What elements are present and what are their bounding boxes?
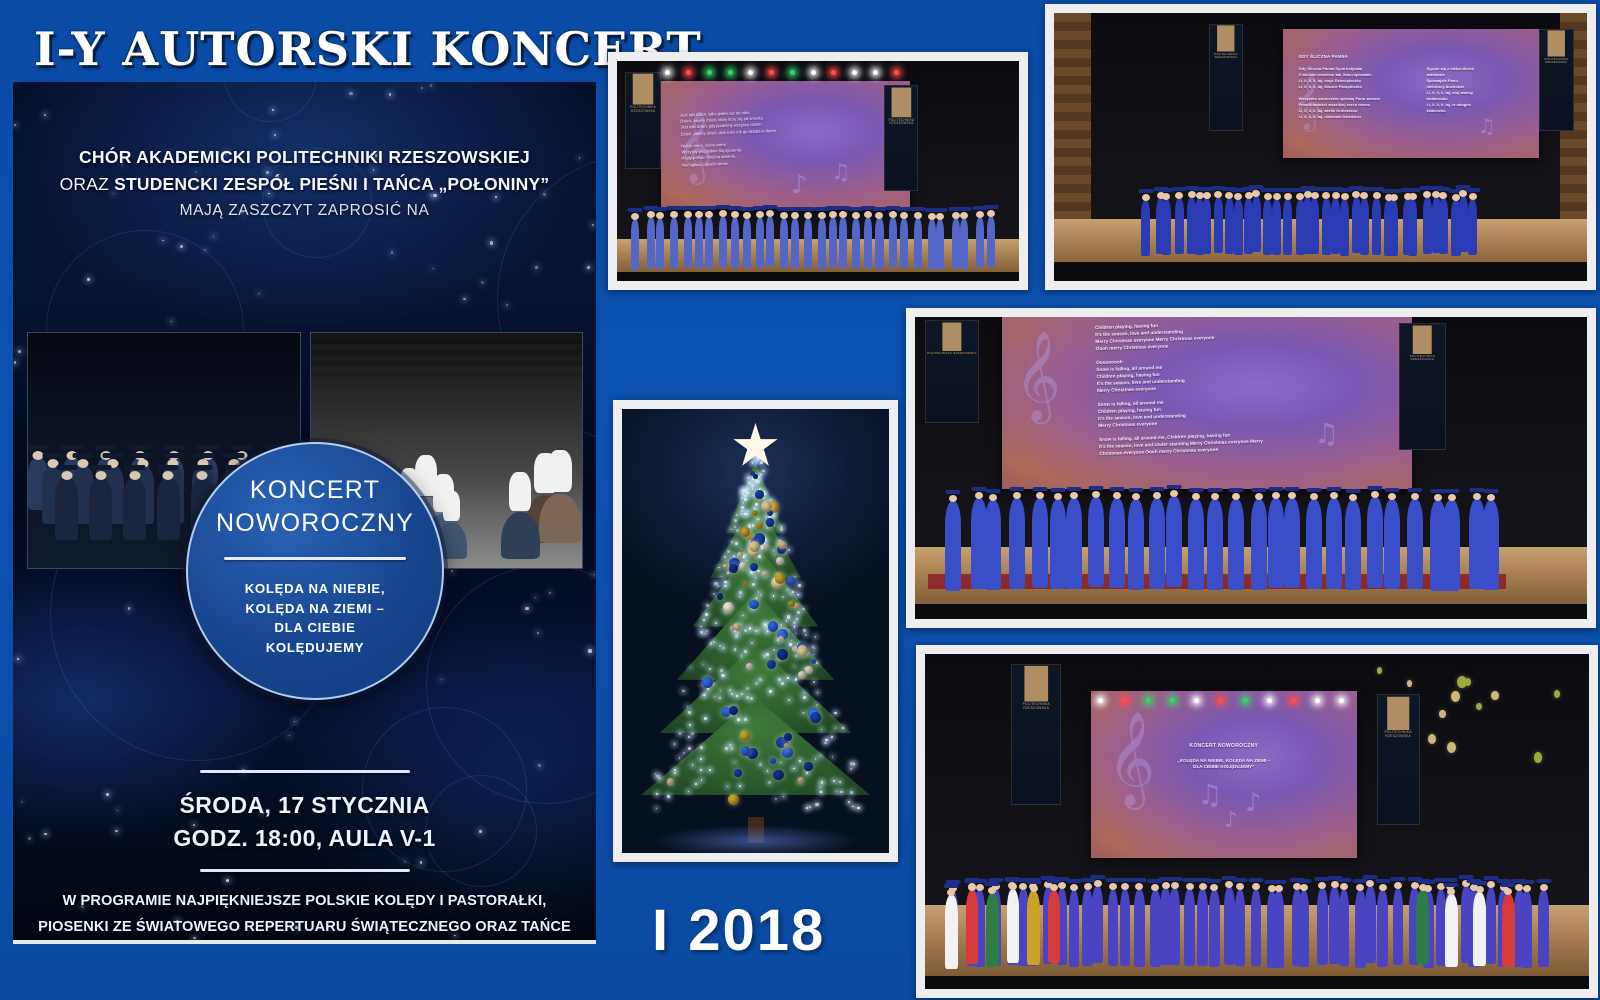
- tree-light: [760, 461, 763, 464]
- tree-light: [752, 462, 753, 463]
- tree-ornament: [804, 762, 813, 771]
- tree-ornament: [777, 649, 788, 660]
- christmas-tree-graphic: [622, 409, 889, 853]
- schedule-time-venue: GODZ. 18:00, AULA V-1: [13, 822, 596, 855]
- choir-member: [1483, 500, 1499, 591]
- tree-light: [736, 695, 738, 697]
- bauble-ornament: [1439, 710, 1446, 718]
- choir-member: [1331, 198, 1340, 254]
- tree-light: [795, 633, 796, 634]
- choir-member: [1439, 198, 1448, 254]
- tree-light: [704, 717, 707, 720]
- tree-light: [758, 555, 761, 558]
- choir-member: [1268, 498, 1284, 589]
- choir-member: [1252, 196, 1261, 252]
- choir-member: [1188, 499, 1204, 590]
- tree-light: [793, 621, 796, 624]
- choir-member: [1228, 499, 1244, 590]
- tree-ornament: [775, 573, 786, 584]
- tree-light: [744, 629, 747, 632]
- tree-light: [704, 694, 706, 696]
- photo-frame-middle-right[interactable]: 𝄞 ♫ Children playing, having fun It's th…: [906, 308, 1596, 628]
- choir-member: [1272, 199, 1281, 255]
- tree-light: [706, 604, 708, 606]
- stage-lamp: [894, 70, 899, 75]
- tree-light: [758, 476, 760, 478]
- tree-ornament: [749, 541, 760, 552]
- choir-member: [1128, 499, 1144, 590]
- tree-light: [706, 630, 708, 632]
- schedule-date: ŚRODA, 17 STYCZNIA: [13, 789, 596, 822]
- tree-ornament: [810, 712, 821, 723]
- tree-light: [786, 620, 787, 621]
- tree-light: [832, 756, 833, 757]
- photo-middle-right: 𝄞 ♫ Children playing, having fun It's th…: [915, 317, 1587, 619]
- choir-member: [1468, 199, 1477, 255]
- badge-subtitle-line2: KOLĘDA NA ZIEMI –: [188, 599, 442, 619]
- organizer-ensemble-line: ORAZ STUDENCKI ZESPÓŁ PIEŚNI I TAŃCA „PO…: [13, 170, 596, 198]
- tree-light: [852, 806, 853, 807]
- tree-light: [746, 687, 749, 690]
- tree-light: [755, 461, 756, 462]
- tree-light: [820, 791, 821, 792]
- badge-subtitle-line1: KOLĘDA NA NIEBIE,: [188, 579, 442, 599]
- page-title: I-Y AUTORSKI KONCERT: [34, 22, 702, 76]
- tree-light: [700, 746, 703, 749]
- tree-ornament: [763, 544, 769, 550]
- tree-light: [710, 642, 713, 645]
- tree-light: [756, 597, 758, 599]
- tree-light: [803, 692, 804, 693]
- tree-light: [824, 742, 827, 745]
- tree-light: [688, 736, 691, 739]
- tree-light: [752, 524, 754, 526]
- year-label: I 2018: [652, 902, 825, 960]
- tree-ornament: [756, 522, 763, 529]
- tree-light: [816, 662, 818, 664]
- choir-member: [1459, 196, 1468, 252]
- tree-light: [726, 560, 727, 561]
- tree-light: [700, 769, 702, 771]
- choir-member: [1149, 498, 1165, 589]
- tree-light: [725, 747, 728, 750]
- poster-organizers: CHÓR AKADEMICKI POLITECHNIKI RZESZOWSKIE…: [13, 144, 596, 224]
- stage-scene: 𝄞 ♫ ♪ ♪ KONCERT NOWOROCZNY „KOLĘDA NA NI…: [925, 654, 1589, 989]
- tree-light: [682, 690, 685, 693]
- stage-lamp: [831, 70, 836, 75]
- tree-light: [763, 497, 765, 499]
- tree-ornament: [717, 593, 724, 600]
- tree-light: [755, 480, 756, 481]
- hanging-baubles: [925, 654, 1589, 989]
- tree-light: [831, 736, 834, 739]
- tree-light: [820, 755, 821, 756]
- poster-program: W PROGRAMIE NAJPIĘKNIEJSZE POLSKIE KOLĘD…: [13, 888, 596, 940]
- tree-light: [719, 697, 720, 698]
- tree-light: [850, 762, 853, 765]
- choir-member: [1207, 499, 1223, 590]
- tree-light: [825, 739, 828, 742]
- organizer-ensemble-name: STUDENCKI ZESPÓŁ PIEŚNI I TAŃCA „POŁONIN…: [114, 174, 549, 194]
- tree-light: [850, 768, 852, 770]
- stage-lamp: [728, 70, 733, 75]
- photo-top-middle: 𝄞 ♪ ♫ Jest taki dzień, tylko jeden raz d…: [617, 61, 1019, 281]
- choir-member: [1251, 499, 1267, 590]
- choir-member: [1407, 499, 1423, 590]
- tree-light: [775, 798, 777, 800]
- choir-member: [1032, 498, 1048, 589]
- tree-light: [736, 529, 739, 532]
- photo-frame-top-middle[interactable]: 𝄞 ♪ ♫ Jest taki dzień, tylko jeden raz d…: [608, 52, 1028, 290]
- choir-row: [915, 317, 1587, 619]
- tree-light: [809, 806, 811, 808]
- tree-light: [734, 519, 737, 522]
- tree-light: [806, 772, 808, 774]
- choir-member: [1389, 200, 1398, 256]
- photo-top-right: 𝄞 ♫ GDY ŚLICZNA PANNA Gdy Śliczna Panna …: [1054, 13, 1587, 281]
- tree-light: [751, 484, 753, 486]
- tree-light: [803, 629, 806, 632]
- bauble-ornament: [1534, 752, 1543, 763]
- tree-ornament: [767, 660, 776, 669]
- tree-ornament: [770, 758, 775, 763]
- tree-light: [674, 769, 676, 771]
- tree-ornament: [798, 777, 804, 783]
- badge-subtitle-line3: DLA CIEBIE: [188, 618, 442, 638]
- tree-light: [795, 678, 798, 681]
- stage-lamp: [665, 70, 670, 75]
- choir-member: [1263, 199, 1272, 255]
- tree-light: [787, 677, 789, 679]
- choir-member: [1234, 199, 1243, 255]
- tree-ornament: [737, 552, 742, 557]
- concert-poster[interactable]: CHÓR AKADEMICKI POLITECHNIKI RZESZOWSKIE…: [13, 82, 596, 944]
- tree-light: [797, 611, 800, 614]
- tree-light: [721, 674, 724, 677]
- tree-light: [848, 801, 850, 803]
- tree-ornament: [766, 518, 774, 526]
- choir-member: [1202, 198, 1211, 254]
- choir-member: [945, 501, 961, 592]
- tree-light: [764, 624, 766, 626]
- tree-light: [752, 461, 753, 462]
- tree-light: [790, 593, 791, 594]
- tree-ornament: [787, 577, 795, 585]
- invitation-line: MAJĄ ZASZCZYT ZAPROSIĆ NA: [13, 198, 596, 224]
- stage-scene: 𝄞 ♪ ♫ Jest taki dzień, tylko jeden raz d…: [617, 61, 1019, 281]
- bauble-ornament: [1377, 667, 1382, 673]
- tree-light: [834, 712, 836, 714]
- tree-light: [767, 770, 768, 771]
- tree-light: [778, 678, 781, 681]
- floor-glow: [622, 813, 889, 853]
- tree-light: [739, 591, 742, 594]
- tree-light: [700, 758, 702, 760]
- tree-light: [736, 514, 738, 516]
- choir-member: [1050, 499, 1066, 590]
- tree-light: [700, 626, 701, 627]
- choir-member: [1166, 496, 1182, 587]
- tree-light: [773, 649, 775, 651]
- tree-light: [690, 667, 691, 668]
- tree-light: [709, 769, 710, 770]
- tree-light: [705, 613, 708, 616]
- tree-light: [835, 727, 836, 728]
- choir-member: [1088, 497, 1104, 588]
- tree-light: [688, 711, 690, 713]
- program-line-2: PIOSENKI ZE ŚWIATOWEGO REPERTUARU ŚWIĄTE…: [13, 914, 596, 940]
- tree-light: [816, 704, 818, 706]
- bauble-ornament: [1554, 690, 1560, 698]
- bauble-ornament: [1447, 742, 1456, 753]
- tree-light: [741, 497, 743, 499]
- stage-lamp: [873, 70, 878, 75]
- tree-light: [747, 510, 749, 512]
- tree-light: [793, 768, 794, 769]
- tree-light: [737, 718, 740, 721]
- stage-scene: 𝄞 ♫ GDY ŚLICZNA PANNA Gdy Śliczna Panna …: [1054, 13, 1587, 281]
- tree-light: [796, 618, 798, 620]
- tree-ornament: [762, 571, 768, 577]
- tree-light: [821, 781, 823, 783]
- tree-ornament: [750, 563, 758, 571]
- tree-light: [683, 752, 685, 754]
- tree-light: [806, 807, 808, 809]
- stage-scene: 𝄞 ♫ Children playing, having fun It's th…: [915, 317, 1587, 619]
- tree-light: [787, 615, 790, 618]
- tree-light: [764, 493, 766, 495]
- stage-lamp: [769, 70, 774, 75]
- tree-light: [688, 791, 689, 792]
- choir-member: [1306, 499, 1322, 590]
- choir-member: [1322, 198, 1331, 254]
- tree-ornament: [788, 601, 795, 608]
- tree-light: [691, 732, 694, 735]
- tree-light: [788, 549, 791, 552]
- tree-light: [766, 653, 769, 656]
- tree-ornament: [749, 600, 758, 609]
- tree-light: [741, 506, 744, 509]
- choir-member: [1367, 497, 1383, 588]
- tree-light: [765, 516, 767, 518]
- tree-light: [815, 803, 818, 806]
- badge-divider: [224, 557, 406, 560]
- tree-light: [813, 654, 814, 655]
- tree-light: [842, 727, 844, 729]
- choir-member: [1372, 198, 1381, 254]
- tree-light: [717, 585, 719, 587]
- tree-light: [749, 482, 751, 484]
- photo-christmas-tree: [622, 409, 889, 853]
- tree-light: [780, 528, 783, 531]
- tree-ornament: [776, 557, 784, 565]
- choir-member: [1109, 498, 1125, 589]
- bauble-ornament: [1491, 691, 1499, 701]
- tree-light: [857, 807, 859, 809]
- photo-frame-bottom-right[interactable]: 𝄞 ♫ ♪ ♪ KONCERT NOWOROCZNY „KOLĘDA NA NI…: [916, 645, 1598, 998]
- concert-badge: KONCERT NOWOROCZNY KOLĘDA NA NIEBIE, KOL…: [186, 442, 444, 700]
- tree-light: [688, 747, 691, 750]
- choir-member: [1284, 498, 1300, 589]
- tree-light: [744, 498, 747, 501]
- schedule-divider-top: [200, 770, 410, 773]
- tree-ornament: [728, 794, 739, 805]
- schedule-text: ŚRODA, 17 STYCZNIA GODZ. 18:00, AULA V-1: [13, 789, 596, 855]
- bauble-ornament: [1476, 703, 1482, 710]
- stage-lamp: [707, 70, 712, 75]
- choir-member: [1283, 199, 1292, 255]
- tree-light: [805, 634, 807, 636]
- organizer-choir-line: CHÓR AKADEMICKI POLITECHNIKI RZESZOWSKIE…: [13, 144, 596, 170]
- tree-light: [759, 678, 762, 681]
- tree-light: [814, 648, 815, 649]
- tree-light: [731, 693, 733, 695]
- stage-lamp: [790, 70, 795, 75]
- tree-light: [674, 743, 675, 744]
- tree-light: [760, 473, 763, 476]
- choir-member: [985, 500, 1001, 591]
- tree-light: [817, 692, 818, 693]
- organizer-oraz: ORAZ: [60, 174, 114, 194]
- choir-member: [1162, 199, 1171, 255]
- tree-ornament: [734, 769, 742, 777]
- choir-member: [1345, 500, 1361, 591]
- choir-member: [1408, 199, 1417, 255]
- tree-light: [762, 470, 765, 473]
- choir-member: [1175, 198, 1184, 254]
- tree-ornament: [811, 659, 816, 664]
- tree-light: [773, 515, 775, 517]
- tree-ornament: [778, 541, 786, 549]
- tree-light: [741, 510, 743, 512]
- tree-light: [687, 706, 688, 707]
- tree-light: [783, 796, 784, 797]
- tree-light: [768, 781, 770, 783]
- tree-light: [741, 655, 742, 656]
- tree-light: [769, 690, 772, 693]
- tree-ornament: [746, 663, 753, 670]
- tree-light: [742, 615, 744, 617]
- choir-member: [1326, 498, 1342, 589]
- tree-light: [802, 608, 805, 611]
- tree-light: [759, 763, 762, 766]
- tree-ornament: [755, 490, 764, 499]
- tree-light: [705, 633, 707, 635]
- tree-ornament: [794, 603, 799, 608]
- tree-light: [727, 572, 729, 574]
- choir-member: [1141, 200, 1150, 256]
- tree-light: [744, 650, 747, 653]
- choir-member: [1360, 198, 1369, 254]
- poster-schedule: ŚRODA, 17 STYCZNIA GODZ. 18:00, AULA V-1: [13, 770, 596, 872]
- bauble-ornament: [1451, 691, 1460, 702]
- tree-light: [774, 524, 775, 525]
- photo-bottom-right: 𝄞 ♫ ♪ ♪ KONCERT NOWOROCZNY „KOLĘDA NA NI…: [925, 654, 1589, 989]
- tree-light: [803, 696, 806, 699]
- stage-lamp: [686, 70, 691, 75]
- tree-light: [656, 808, 657, 809]
- choir-member: [1009, 498, 1025, 589]
- tree-light: [795, 655, 797, 657]
- tree-light: [727, 550, 730, 553]
- tree-ornament: [753, 474, 758, 479]
- tree-light: [744, 495, 747, 498]
- tree-light: [714, 582, 717, 585]
- badge-subtitle-line4: KOLĘDUJEMY: [188, 638, 442, 658]
- tree-light: [815, 636, 816, 637]
- choir-member: [1066, 498, 1082, 589]
- tree-light: [755, 682, 758, 685]
- collage-canvas: I-Y AUTORSKI KONCERT CHÓR AKADEMICKI POL…: [0, 0, 1600, 1000]
- bauble-ornament: [1428, 734, 1436, 744]
- tree-light: [735, 542, 738, 545]
- tree-light: [798, 584, 801, 587]
- tree-light: [813, 681, 815, 683]
- badge-title-line1: KONCERT: [188, 474, 442, 507]
- tree-ornament: [768, 621, 779, 632]
- tree-ornament: [797, 645, 809, 657]
- tree-light: [836, 791, 837, 792]
- tree-ornament: [741, 527, 750, 536]
- choir-member: [1340, 199, 1349, 255]
- tree-light: [713, 593, 715, 595]
- tree-light: [679, 757, 681, 759]
- tree-light: [655, 773, 656, 774]
- tree-light: [720, 690, 721, 691]
- choir-member: [1310, 198, 1319, 254]
- tree-light: [767, 527, 769, 529]
- schedule-divider-bottom: [200, 869, 410, 872]
- tree-light: [757, 458, 759, 460]
- tree-ornament: [702, 677, 713, 688]
- tree-light: [701, 633, 703, 635]
- tree-ornament: [741, 746, 750, 755]
- tree-light: [764, 655, 765, 656]
- stage-lamp: [852, 70, 857, 75]
- photo-frame-top-right[interactable]: 𝄞 ♫ GDY ŚLICZNA PANNA Gdy Śliczna Panna …: [1045, 4, 1596, 290]
- tree-ornament: [667, 778, 674, 785]
- bauble-ornament: [1407, 680, 1412, 686]
- tree-ornament: [740, 730, 751, 741]
- choir-row: [1054, 13, 1587, 281]
- choir-member: [1384, 499, 1400, 590]
- tree-light: [755, 630, 757, 632]
- choir-member: [1443, 500, 1459, 591]
- choir-member: [1214, 197, 1223, 253]
- stage-light-bar: [617, 61, 1019, 281]
- tree-ornament: [729, 564, 738, 573]
- stage-lamp: [811, 70, 816, 75]
- tree-light: [794, 626, 796, 628]
- photo-frame-christmas-tree[interactable]: [613, 400, 898, 862]
- stage-lamp: [748, 70, 753, 75]
- choir-member: [1423, 197, 1432, 253]
- tree-light: [667, 795, 670, 798]
- program-line-1: W PROGRAMIE NAJPIĘKNIEJSZE POLSKIE KOLĘD…: [13, 888, 596, 914]
- tree-light: [757, 480, 760, 483]
- tree-light: [724, 581, 726, 583]
- tree-light: [853, 763, 855, 765]
- badge-title-line2: NOWOROCZNY: [188, 507, 442, 540]
- tree-light: [833, 780, 835, 782]
- choir-member: [1225, 198, 1234, 254]
- bauble-ornament: [1465, 678, 1471, 686]
- tree-light: [679, 733, 680, 734]
- tree-light: [730, 744, 731, 745]
